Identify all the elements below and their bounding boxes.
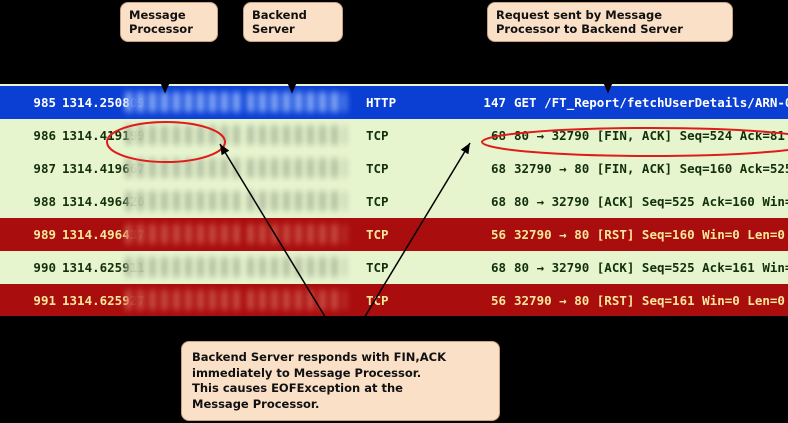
packet-destination-redacted — [248, 290, 346, 310]
callout-backend-server: Backend Server — [243, 2, 343, 42]
packet-source-redacted — [126, 92, 244, 112]
packet-source-redacted — [126, 191, 244, 211]
packet-number: 989 — [0, 218, 56, 251]
packet-number: 990 — [0, 251, 56, 284]
screenshot-root: Message Processor Backend Server Request… — [0, 0, 788, 423]
packet-destination-redacted — [248, 224, 346, 244]
packet-destination-redacted — [248, 92, 346, 112]
packet-number: 985 — [0, 86, 56, 119]
packet-number: 986 — [0, 119, 56, 152]
packet-protocol: TCP — [366, 119, 406, 152]
packet-number: 987 — [0, 152, 56, 185]
table-row[interactable]: 985 1314.250809 HTTP 147 GET /FT_Report/… — [0, 86, 788, 119]
packet-length: 68 — [470, 185, 506, 218]
table-row[interactable]: 990 1314.625911 TCP 68 80 → 32790 [ACK] … — [0, 251, 788, 284]
packet-length: 56 — [470, 218, 506, 251]
packet-info: 32790 → 80 [RST] Seq=160 Win=0 Len=0 — [514, 218, 785, 251]
packet-protocol: TCP — [366, 152, 406, 185]
packet-source-redacted — [126, 290, 244, 310]
callout-request-sent: Request sent by Message Processor to Bac… — [487, 2, 733, 42]
table-row[interactable]: 988 1314.496420 TCP 68 80 → 32790 [ACK] … — [0, 185, 788, 218]
packet-info: 80 → 32790 [ACK] Seq=525 Ack=160 Win=268… — [514, 185, 788, 218]
packet-source-redacted — [126, 257, 244, 277]
table-row[interactable]: 987 1314.419667 TCP 68 32790 → 80 [FIN, … — [0, 152, 788, 185]
packet-length: 68 — [470, 251, 506, 284]
table-row[interactable]: 991 1314.625927 TCP 56 32790 → 80 [RST] … — [0, 284, 788, 316]
packet-source-redacted — [126, 158, 244, 178]
packet-protocol: TCP — [366, 251, 406, 284]
packet-info: GET /FT_Report/fetchUserDetails/ARN-0262… — [514, 86, 788, 119]
table-row[interactable]: 989 1314.496437 TCP 56 32790 → 80 [RST] … — [0, 218, 788, 251]
table-row[interactable]: 986 1314.419199 TCP 68 80 → 32790 [FIN, … — [0, 119, 788, 152]
packet-destination-redacted — [248, 158, 346, 178]
packet-length: 68 — [470, 119, 506, 152]
packet-protocol: TCP — [366, 218, 406, 251]
packet-length: 56 — [470, 284, 506, 316]
packet-source-redacted — [126, 224, 244, 244]
packet-destination-redacted — [248, 125, 346, 145]
packet-list-table[interactable]: 985 1314.250809 HTTP 147 GET /FT_Report/… — [0, 84, 788, 316]
packet-protocol: HTTP — [366, 86, 406, 119]
packet-info: 32790 → 80 [FIN, ACK] Seq=160 Ack=525 Wi… — [514, 152, 788, 185]
packet-info: 80 → 32790 [ACK] Seq=525 Ack=161 Win=268… — [514, 251, 788, 284]
packet-length: 147 — [470, 86, 506, 119]
callout-message-processor: Message Processor — [120, 2, 218, 42]
packet-info: 32790 → 80 [RST] Seq=161 Win=0 Len=0 — [514, 284, 785, 316]
packet-number: 991 — [0, 284, 56, 316]
packet-source-redacted — [126, 125, 244, 145]
callout-explanation-note: Backend Server responds with FIN,ACK imm… — [181, 341, 500, 421]
packet-protocol: TCP — [366, 284, 406, 316]
packet-protocol: TCP — [366, 185, 406, 218]
packet-info: 80 → 32790 [FIN, ACK] Seq=524 Ack=81 Win… — [514, 119, 788, 152]
packet-destination-redacted — [248, 257, 346, 277]
packet-length: 68 — [470, 152, 506, 185]
packet-number: 988 — [0, 185, 56, 218]
packet-destination-redacted — [248, 191, 346, 211]
